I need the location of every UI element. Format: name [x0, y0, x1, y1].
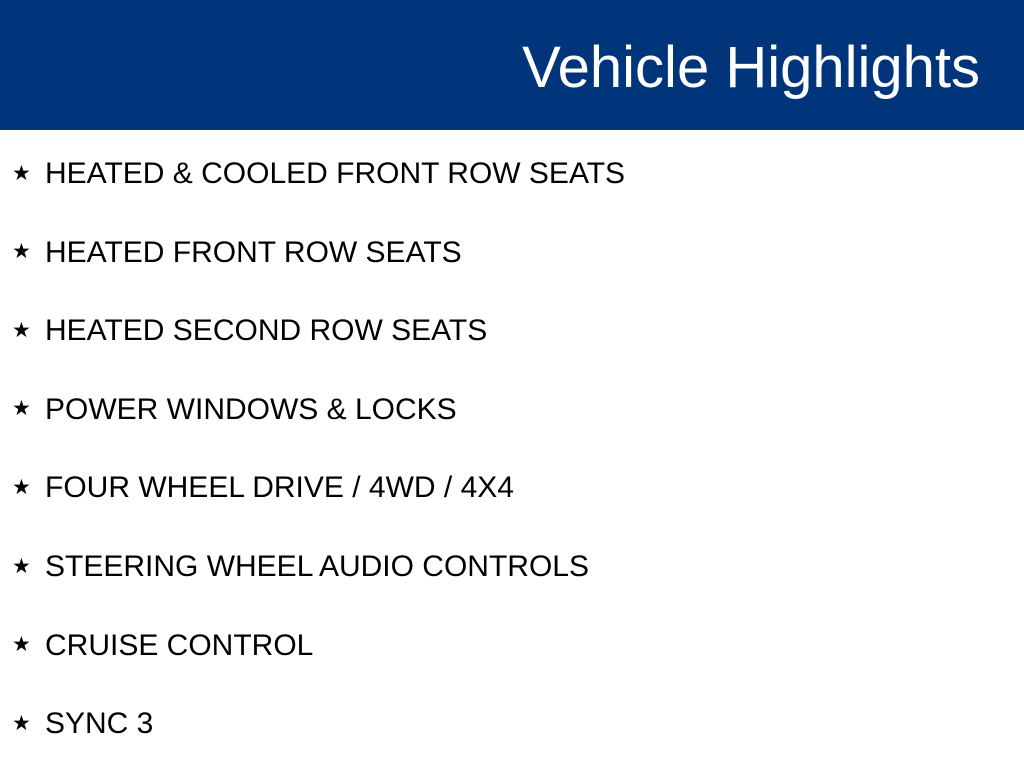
list-item-label: STEERING WHEEL AUDIO CONTROLS [45, 550, 589, 584]
list-item: ★CRUISE CONTROL [0, 629, 1024, 663]
list-item-label: POWER WINDOWS & LOCKS [45, 393, 457, 427]
slide-header: Vehicle Highlights [0, 0, 1024, 130]
list-item-label: HEATED & COOLED FRONT ROW SEATS [45, 157, 625, 191]
vehicle-highlights-slide: Vehicle Highlights ★HEATED & COOLED FRON… [0, 0, 1024, 768]
list-item: ★SYNC 3 [0, 707, 1024, 741]
star-bullet-icon: ★ [12, 713, 45, 734]
list-item-label: FOUR WHEEL DRIVE / 4WD / 4X4 [45, 471, 514, 505]
list-item: ★FOUR WHEEL DRIVE / 4WD / 4X4 [0, 471, 1024, 505]
page-title: Vehicle Highlights [522, 39, 980, 97]
star-bullet-icon: ★ [12, 477, 45, 498]
list-item: ★HEATED & COOLED FRONT ROW SEATS [0, 157, 1024, 191]
star-bullet-icon: ★ [12, 398, 45, 419]
list-item-label: HEATED FRONT ROW SEATS [45, 236, 462, 270]
star-bullet-icon: ★ [12, 320, 45, 341]
list-item-label: SYNC 3 [45, 707, 153, 741]
star-bullet-icon: ★ [12, 241, 45, 262]
list-item: ★HEATED FRONT ROW SEATS [0, 236, 1024, 270]
list-item: ★HEATED SECOND ROW SEATS [0, 314, 1024, 348]
list-item: ★STEERING WHEEL AUDIO CONTROLS [0, 550, 1024, 584]
star-bullet-icon: ★ [12, 163, 45, 184]
list-item: ★POWER WINDOWS & LOCKS [0, 393, 1024, 427]
list-item-label: HEATED SECOND ROW SEATS [45, 314, 487, 348]
list-item-label: CRUISE CONTROL [45, 629, 313, 663]
star-bullet-icon: ★ [12, 556, 45, 577]
star-bullet-icon: ★ [12, 634, 45, 655]
